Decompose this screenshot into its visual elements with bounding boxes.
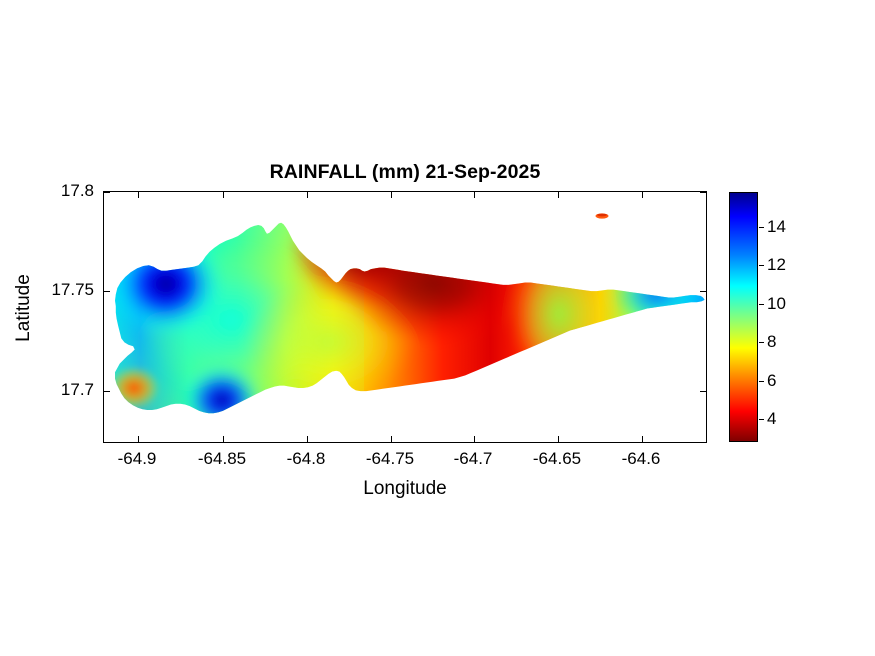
ytick-mark <box>104 192 110 193</box>
ytick-mark-right <box>700 391 706 392</box>
colorbar-label: 4 <box>767 409 776 429</box>
colorbar-label: 12 <box>767 255 786 275</box>
xtick-mark <box>558 436 559 442</box>
plot-axes[interactable] <box>103 191 707 443</box>
xtick-label: -64.8 <box>287 449 326 469</box>
xtick-mark <box>391 436 392 442</box>
xtick-mark-top <box>558 192 559 198</box>
colorbar-tick <box>759 265 764 266</box>
colorbar[interactable] <box>729 192 758 442</box>
ytick-label: 17.8 <box>61 181 94 201</box>
colorbar-tick <box>759 419 764 420</box>
xtick-label: -64.65 <box>533 449 581 469</box>
rainfall-raster <box>104 192 707 443</box>
x-axis-label: Longitude <box>103 478 707 500</box>
colorbar-label: 10 <box>767 294 786 314</box>
ytick-label: 17.7 <box>61 380 94 400</box>
colorbar-label: 8 <box>767 332 776 352</box>
colorbar-tick <box>759 227 764 228</box>
colorbar-label: 6 <box>767 371 776 391</box>
xtick-label: -64.9 <box>118 449 157 469</box>
ytick-mark <box>104 291 110 292</box>
xtick-mark-top <box>391 192 392 198</box>
xtick-mark-top <box>307 192 308 198</box>
xtick-label: -64.7 <box>454 449 493 469</box>
ytick-mark-right <box>700 192 706 193</box>
page-title: RAINFALL (mm) 21-Sep-2025 <box>103 161 707 184</box>
ytick-mark-right <box>700 291 706 292</box>
xtick-mark <box>642 436 643 442</box>
ytick-label: 17.75 <box>51 280 94 300</box>
colorbar-tick <box>759 381 764 382</box>
ytick-mark <box>104 391 110 392</box>
xtick-label: -64.6 <box>622 449 661 469</box>
xtick-mark <box>474 436 475 442</box>
xtick-mark-top <box>223 192 224 198</box>
colorbar-label: 14 <box>767 217 786 237</box>
figure-canvas: RAINFALL (mm) 21-Sep-2025 <box>0 0 875 656</box>
colorbar-tick <box>759 304 764 305</box>
xtick-mark-top <box>642 192 643 198</box>
xtick-label: -64.75 <box>366 449 414 469</box>
xtick-mark <box>307 436 308 442</box>
xtick-mark-top <box>138 192 139 198</box>
xtick-label: -64.85 <box>198 449 246 469</box>
y-axis-label: Latitude <box>13 248 35 368</box>
xtick-mark-top <box>474 192 475 198</box>
xtick-mark <box>223 436 224 442</box>
xtick-mark <box>138 436 139 442</box>
colorbar-tick <box>759 342 764 343</box>
